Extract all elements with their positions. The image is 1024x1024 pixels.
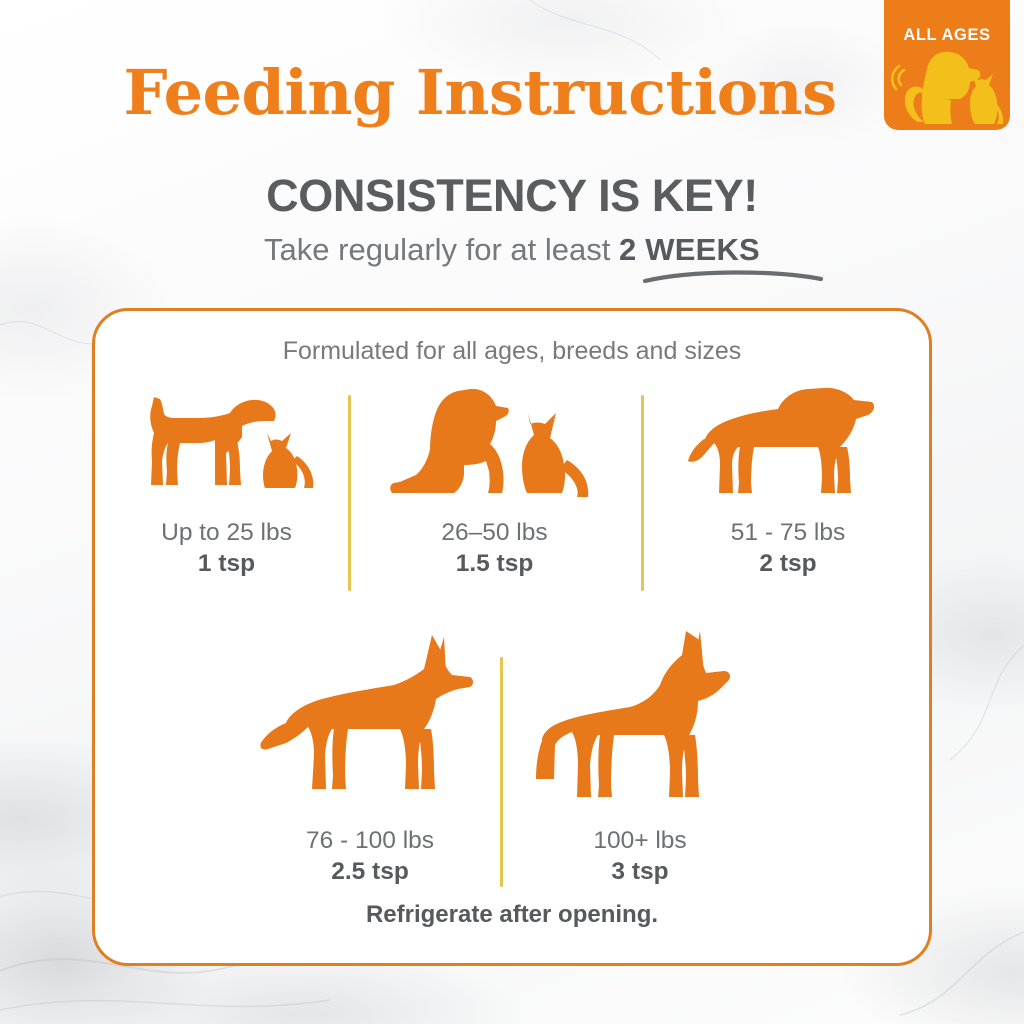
dosage-dose-label: 2.5 tsp: [240, 856, 500, 887]
subtitle: CONSISTENCY IS KEY!: [0, 170, 1024, 222]
row-1-divider-2: [641, 395, 644, 591]
dosage-cell-art: [240, 629, 500, 819]
dosage-card: Formulated for all ages, breeds and size…: [92, 308, 932, 966]
shepherd-dog-icon: [260, 629, 480, 819]
dosage-weight-label: Up to 25 lbs: [105, 517, 348, 548]
dosage-weight-label: 76 - 100 lbs: [240, 825, 500, 856]
dosage-cell-art: [358, 381, 631, 509]
medium-dog-and-cat-sitting-icon: [390, 381, 600, 509]
dosage-weight-label: 26–50 lbs: [358, 517, 631, 548]
dosage-dose-label: 3 tsp: [510, 856, 770, 887]
dosage-cell-100-plus: 100+ lbs 3 tsp: [510, 629, 770, 888]
row-2-divider-1: [500, 657, 503, 887]
dosage-cell-art: [651, 381, 925, 509]
small-dog-and-cat-icon: [132, 381, 322, 509]
dosage-cell-51-75: 51 - 75 lbs 2 tsp: [651, 381, 925, 580]
row-1-divider-1: [348, 395, 351, 591]
dosage-weight-label: 100+ lbs: [510, 825, 770, 856]
dosage-dose-label: 1 tsp: [105, 548, 348, 579]
dosage-weight-label: 51 - 75 lbs: [651, 517, 925, 548]
dosage-row-1: Up to 25 lbs 1 tsp 26–50 lbs 1.5 t: [95, 381, 929, 601]
dosage-cell-26-50: 26–50 lbs 1.5 tsp: [358, 381, 631, 580]
tagline: Take regularly for at least 2 WEEKS: [264, 232, 760, 268]
all-ages-badge-label: ALL AGES: [884, 26, 1010, 45]
dosage-dose-label: 1.5 tsp: [358, 548, 631, 579]
dosage-cell-art: [105, 381, 348, 509]
dosage-cell-art: [510, 629, 770, 819]
refrigerate-note: Refrigerate after opening.: [95, 901, 929, 929]
dosage-dose-label: 2 tsp: [651, 548, 925, 579]
curved-underline-swoosh: [642, 268, 824, 284]
dosage-cell-up-to-25: Up to 25 lbs 1 tsp: [105, 381, 348, 580]
labrador-dog-icon: [688, 381, 888, 509]
dosage-cell-76-100: 76 - 100 lbs 2.5 tsp: [240, 629, 500, 888]
page-title: Feeding Instructions: [0, 56, 960, 129]
tagline-duration: 2 WEEKS: [619, 232, 760, 267]
tagline-row: Take regularly for at least 2 WEEKS: [0, 232, 1024, 268]
dosage-row-2: 76 - 100 lbs 2.5 tsp 100+ lbs 3 tsp: [95, 629, 929, 889]
great-dane-dog-icon: [530, 629, 750, 819]
tagline-prefix: Take regularly for at least: [264, 232, 619, 267]
formulated-note: Formulated for all ages, breeds and size…: [95, 337, 929, 366]
